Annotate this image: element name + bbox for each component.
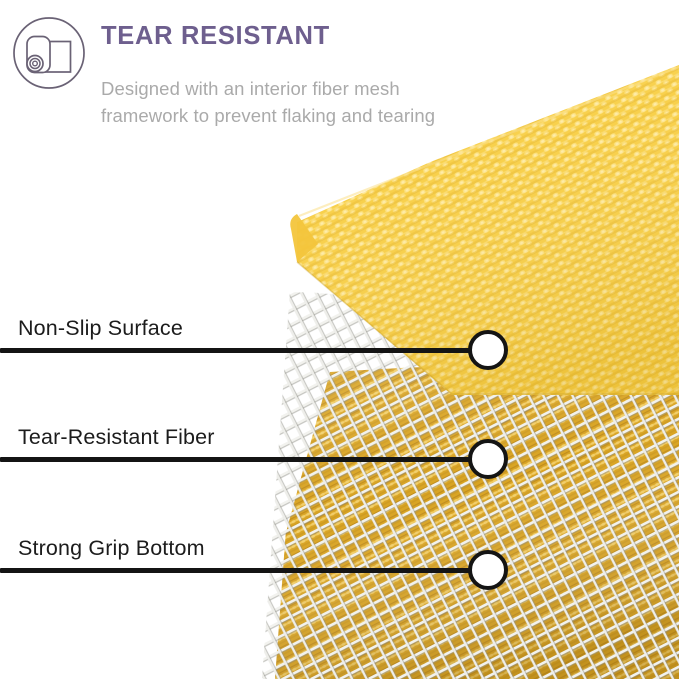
page-title: TEAR RESISTANT — [101, 24, 330, 50]
rug-roll-icon — [12, 16, 86, 90]
callout-label-strong-grip-bottom: Strong Grip Bottom — [18, 538, 205, 560]
callout-label-tear-resistant-fiber: Tear-Resistant Fiber — [18, 427, 215, 449]
header-description: Designed with an interior fiber mesh fra… — [101, 76, 461, 129]
callout-label-non-slip-surface: Non-Slip Surface — [18, 318, 183, 340]
callout-marker-tear-resistant-fiber[interactable] — [468, 439, 508, 479]
callout-marker-strong-grip-bottom[interactable] — [468, 550, 508, 590]
callout-marker-non-slip-surface[interactable] — [468, 330, 508, 370]
infographic-canvas: TEAR RESISTANT Designed with an interior… — [0, 0, 679, 679]
header-block: TEAR RESISTANT Designed with an interior… — [0, 0, 679, 175]
